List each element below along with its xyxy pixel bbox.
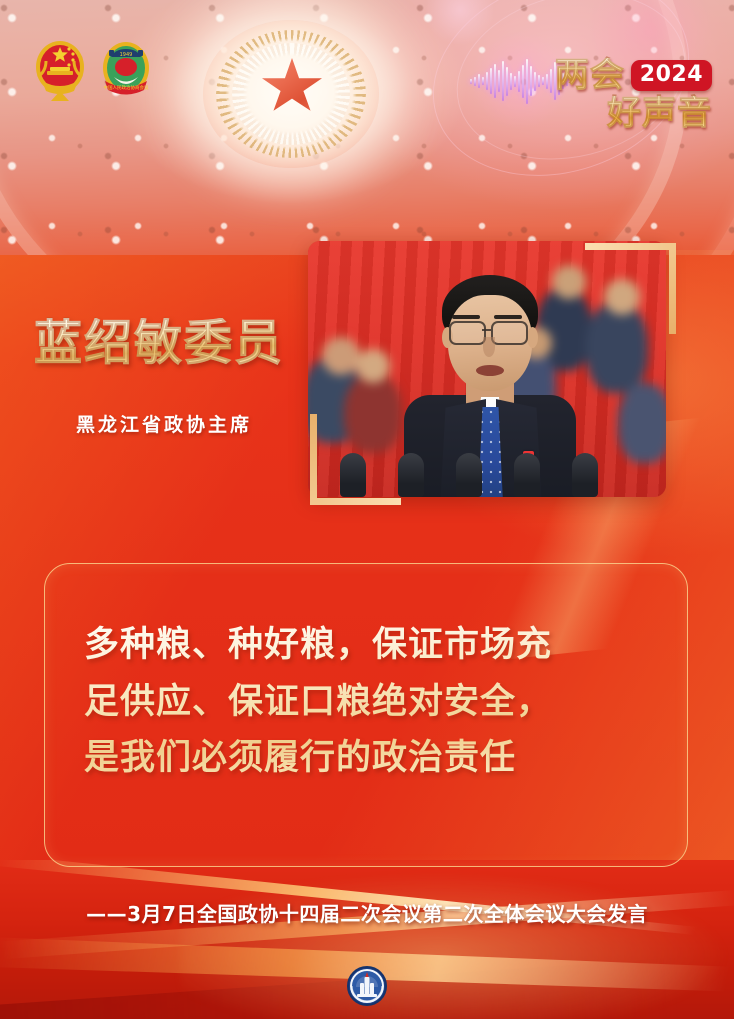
photo-glasses-left (449, 321, 486, 345)
poster-root: 1949 中国人民政治协商会议 两会 2024 好声音 蓝绍敏委员 黑龙江省政协… (0, 0, 734, 1019)
photo-brow-right (494, 315, 522, 319)
waveform-bar-20 (550, 69, 552, 93)
waveform-bar-4 (486, 72, 488, 90)
round-media-emblem-icon (346, 965, 388, 1007)
waveform-bar-1 (474, 77, 476, 86)
waveform-bar-18 (542, 77, 544, 85)
photo-frame-corner-top-right (585, 243, 676, 334)
emblem-group: 1949 中国人民政治协商会议 (34, 37, 152, 105)
waveform-bar-13 (522, 65, 524, 98)
badge-title-line1: 两会 (555, 58, 625, 92)
svg-text:中国人民政治协商会议: 中国人民政治协商会议 (104, 84, 149, 91)
waveform-bar-12 (518, 71, 520, 92)
waveform-bar-3 (482, 77, 484, 85)
quote-line-2: 足供应、保证口粮绝对安全， (84, 674, 654, 731)
waveform-bar-7 (498, 70, 500, 92)
photo-ear-right (527, 327, 538, 348)
photo-brow-left (452, 315, 480, 319)
speaker-role: 黑龙江省政协主席 (76, 410, 252, 437)
badge-title-line2: 好声音 (555, 96, 712, 130)
badge-top-row: 两会 2024 (555, 58, 712, 92)
waveform-bar-5 (490, 68, 492, 94)
photo-mouth (476, 365, 504, 376)
quote-line-3: 是我们必须履行的政治责任 (84, 730, 654, 787)
waveform-bar-17 (538, 75, 540, 87)
waveform-bar-14 (526, 59, 528, 104)
speaker-photo-container (308, 241, 676, 505)
waveform-bar-8 (502, 61, 504, 101)
photo-frame-corner-bottom-left (310, 414, 401, 505)
waveform-bar-10 (510, 73, 512, 90)
source-caption: ——3月7日全国政协十四届二次会议第二次全体会议大会发言 (0, 898, 734, 927)
photo-glasses-bridge (482, 329, 491, 331)
speaker-name: 蓝绍敏委员 (34, 318, 284, 370)
badge-year: 2024 (631, 60, 712, 91)
waveform-bar-19 (546, 74, 548, 89)
waveform-bar-2 (478, 74, 480, 88)
quote-text: 多种粮、种好粮，保证市场充 足供应、保证口粮绝对安全， 是我们必须履行的政治责任 (84, 617, 654, 787)
cppcc-emblem-icon: 1949 中国人民政治协商会议 (100, 37, 152, 105)
waveform-bar-11 (514, 76, 516, 87)
waveform-bar-0 (470, 79, 472, 84)
waveform-bar-15 (530, 66, 532, 96)
waveform-bar-9 (506, 67, 508, 96)
program-badge: 两会 2024 好声音 (555, 58, 712, 130)
photo-nose (483, 337, 495, 357)
ribbon-glow (180, 870, 734, 1019)
quote-line-1: 多种粮、种好粮，保证市场充 (84, 617, 654, 674)
national-emblem-of-china-icon (34, 37, 86, 105)
photo-glasses-right (491, 321, 528, 345)
waveform-bar-6 (494, 64, 496, 98)
svg-text:1949: 1949 (120, 52, 133, 58)
waveform-bar-16 (534, 72, 536, 91)
